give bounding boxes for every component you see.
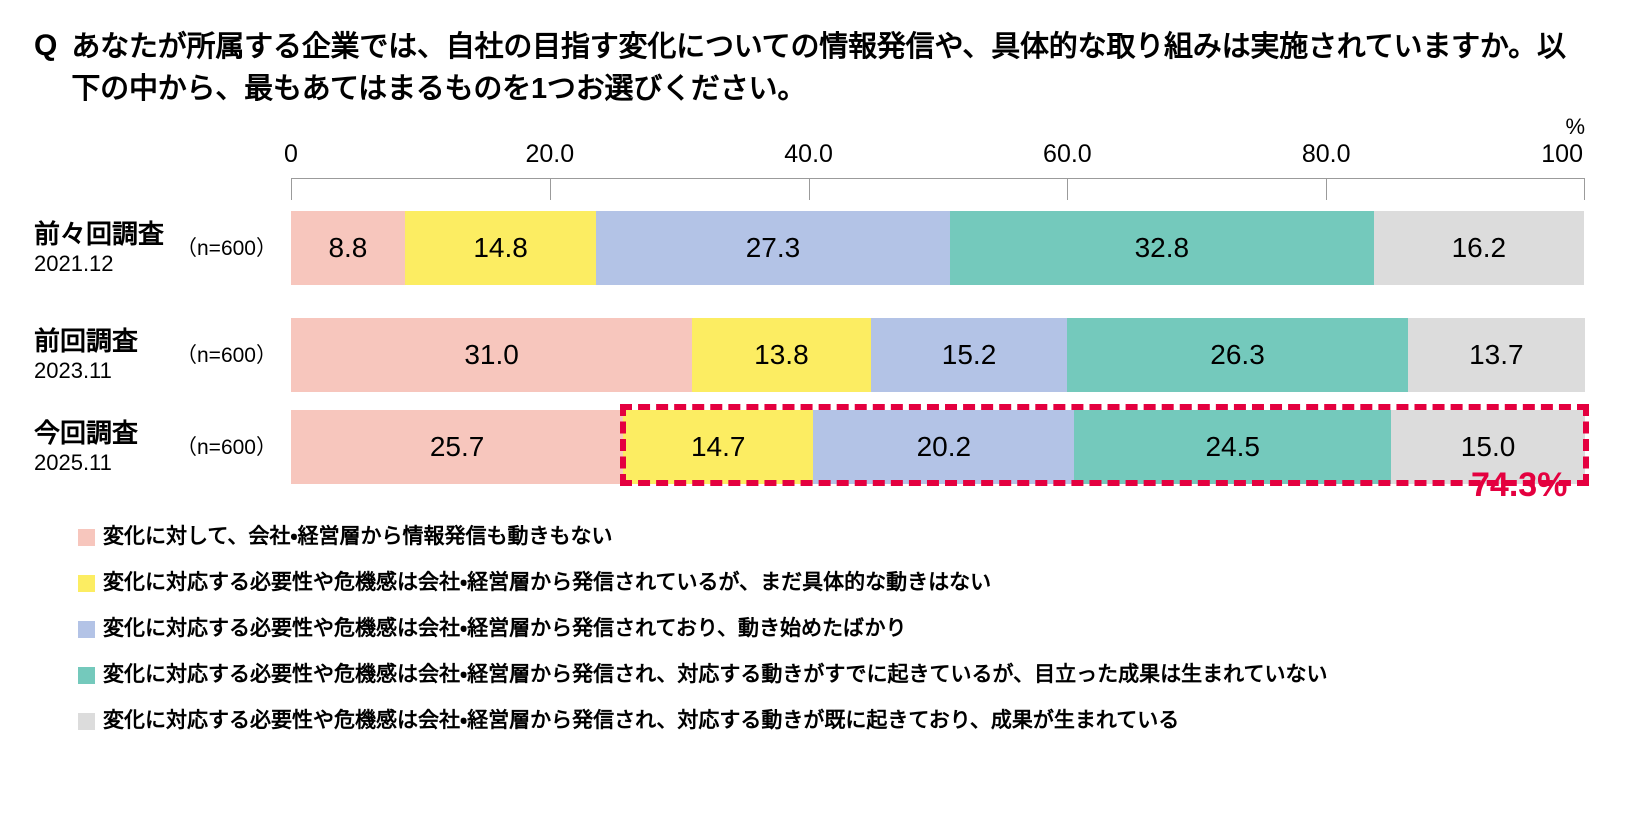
bar-segment-value: 13.7: [1469, 341, 1524, 369]
legend-color-swatch: [78, 575, 95, 592]
highlight-total-label: 74.3%: [1471, 468, 1567, 502]
bar-segment-value: 25.7: [430, 433, 485, 461]
legend-label: 変化に対して、会社・経営層から情報発信も動きもない: [103, 525, 612, 549]
bar-segment-value: 27.3: [746, 234, 801, 262]
bar-segment-value: 31.0: [464, 341, 519, 369]
axis-tick-label: 100: [1541, 142, 1583, 167]
bar-segment[interactable]: 13.8: [692, 318, 871, 392]
bar-segment[interactable]: 13.7: [1408, 318, 1585, 392]
bar-segment[interactable]: 14.8: [405, 211, 597, 285]
chart-legend: 変化に対して、会社・経営層から情報発信も動きもない変化に対応する必要性や危機感は…: [78, 514, 1578, 744]
bar-segment[interactable]: 25.7: [291, 410, 623, 484]
bar-segment-value: 15.0: [1461, 433, 1516, 461]
bar-segment-value: 14.8: [473, 234, 528, 262]
bar-segment[interactable]: 26.3: [1067, 318, 1407, 392]
legend-color-swatch: [78, 667, 95, 684]
axis-tick-label: 80.0: [1302, 142, 1351, 167]
axis-line: [291, 178, 1585, 179]
legend-item[interactable]: 変化に対して、会社・経営層から情報発信も動きもない: [78, 514, 1578, 560]
bar-segment[interactable]: 27.3: [596, 211, 949, 285]
bar-segment[interactable]: 14.7: [623, 410, 813, 484]
bar-segment-value: 16.2: [1452, 234, 1507, 262]
chart-row: 前回調査2023.11（n=600）31.013.815.226.313.7: [0, 318, 1628, 392]
bar-segment[interactable]: 8.8: [291, 211, 405, 285]
legend-item[interactable]: 変化に対応する必要性や危機感は会社・経営層から発信され、対応する動きがすでに起き…: [78, 652, 1578, 698]
row-sample-size: （n=600）: [176, 318, 277, 392]
stacked-bar-chart: % 020.040.060.080.0100 前々回調査2021.12（n=60…: [0, 0, 1628, 520]
legend-label: 変化に対応する必要性や危機感は会社・経営層から発信されており、動き始めたばかり: [103, 617, 906, 641]
bar-segment[interactable]: 24.5: [1074, 410, 1391, 484]
stacked-bar: 8.814.827.332.816.2: [291, 211, 1585, 285]
bar-segment[interactable]: 31.0: [291, 318, 692, 392]
bar-segment[interactable]: 32.8: [950, 211, 1374, 285]
axis-tick: [1067, 178, 1068, 200]
axis-tick-label: 0: [284, 142, 298, 167]
row-sample-size: （n=600）: [176, 410, 277, 484]
legend-color-swatch: [78, 713, 95, 730]
legend-color-swatch: [78, 529, 95, 546]
stacked-bar: 25.714.720.224.515.0: [291, 410, 1585, 484]
bar-segment-value: 15.2: [942, 341, 997, 369]
axis-tick-label: 60.0: [1043, 142, 1092, 167]
bar-segment-value: 26.3: [1210, 341, 1265, 369]
axis-tick: [1326, 178, 1327, 200]
legend-item[interactable]: 変化に対応する必要性や危機感は会社・経営層から発信されているが、まだ具体的な動き…: [78, 560, 1578, 606]
legend-item[interactable]: 変化に対応する必要性や危機感は会社・経営層から発信されており、動き始めたばかり: [78, 606, 1578, 652]
bar-segment-value: 24.5: [1205, 433, 1260, 461]
row-sample-size: （n=600）: [176, 211, 277, 285]
bar-segment[interactable]: 16.2: [1374, 211, 1584, 285]
axis-tick: [1584, 178, 1585, 200]
bar-segment[interactable]: 20.2: [813, 410, 1074, 484]
legend-label: 変化に対応する必要性や危機感は会社・経営層から発信され、対応する動きがすでに起き…: [103, 663, 1328, 687]
legend-label: 変化に対応する必要性や危機感は会社・経営層から発信され、対応する動きが既に起きて…: [103, 709, 1179, 733]
bar-segment[interactable]: 15.2: [871, 318, 1068, 392]
chart-row: 今回調査2025.11（n=600）25.714.720.224.515.0: [0, 410, 1628, 484]
axis-tick-label: 40.0: [784, 142, 833, 167]
bar-segment-value: 20.2: [917, 433, 972, 461]
stacked-bar: 31.013.815.226.313.7: [291, 318, 1585, 392]
axis-tick: [291, 178, 292, 200]
bar-segment-value: 14.7: [691, 433, 746, 461]
axis-unit-label: %: [1525, 116, 1585, 138]
bar-segment-value: 32.8: [1135, 234, 1190, 262]
bar-segment-value: 13.8: [754, 341, 809, 369]
axis-tick-label: 20.0: [525, 142, 574, 167]
legend-item[interactable]: 変化に対応する必要性や危機感は会社・経営層から発信され、対応する動きが既に起きて…: [78, 698, 1578, 744]
chart-row: 前々回調査2021.12（n=600）8.814.827.332.816.2: [0, 211, 1628, 285]
axis-tick: [550, 178, 551, 200]
axis-tick: [809, 178, 810, 200]
legend-label: 変化に対応する必要性や危機感は会社・経営層から発信されているが、まだ具体的な動き…: [103, 571, 991, 595]
bar-segment-value: 8.8: [328, 234, 367, 262]
legend-color-swatch: [78, 621, 95, 638]
